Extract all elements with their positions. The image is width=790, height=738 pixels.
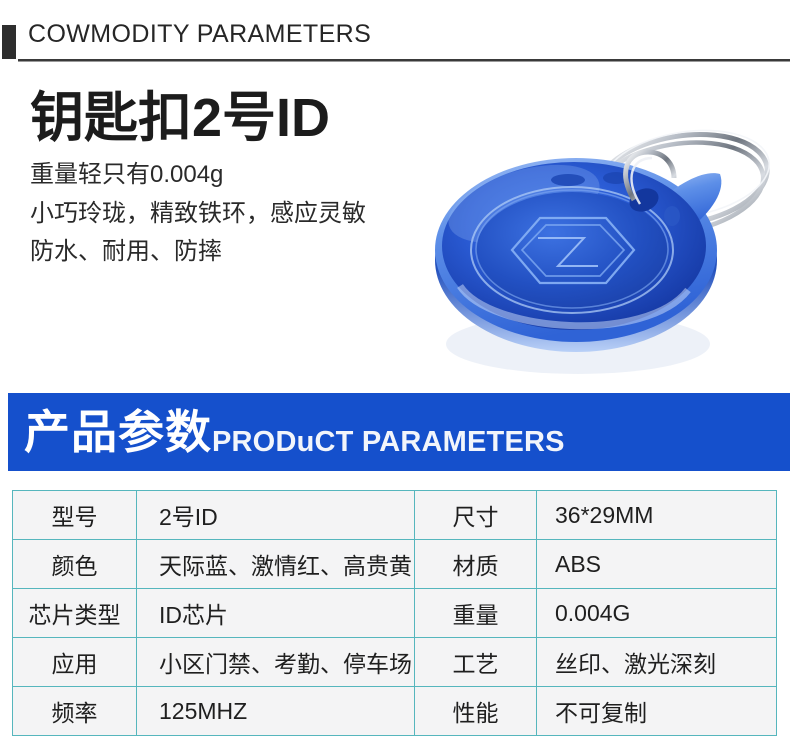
param-label2: 尺寸 bbox=[415, 491, 537, 540]
banner-title-en: PRODuCT PARAMETERS bbox=[212, 428, 565, 457]
param-label2: 性能 bbox=[415, 687, 537, 736]
banner-title-cn: 产品参数 bbox=[24, 409, 212, 455]
parameter-table: 型号 2号ID 尺寸 36*29MM 颜色 天际蓝、激情红、高贵黄 材质 ABS… bbox=[12, 490, 777, 736]
table-row: 应用 小区门禁、考勤、停车场 工艺 丝印、激光深刻 bbox=[13, 638, 777, 687]
product-detail-page: COWMODITY PARAMETERS 钥匙扣2号ID 重量轻只有0.004g… bbox=[0, 0, 790, 738]
param-value2: 0.004G bbox=[537, 589, 777, 638]
param-label: 频率 bbox=[13, 687, 137, 736]
table-row: 芯片类型 ID芯片 重量 0.004G bbox=[13, 589, 777, 638]
param-value2: 36*29MM bbox=[537, 491, 777, 540]
intro-line-weight: 重量轻只有0.004g bbox=[30, 158, 450, 192]
param-label2: 工艺 bbox=[415, 638, 537, 687]
keyfob-image bbox=[420, 108, 790, 390]
section-header: COWMODITY PARAMETERS bbox=[0, 20, 790, 64]
param-label2: 重量 bbox=[415, 589, 537, 638]
product-intro: 钥匙扣2号ID 重量轻只有0.004g 小巧玲珑，精致铁环，感应灵敏 防水、耐用… bbox=[30, 88, 450, 269]
param-value: 天际蓝、激情红、高贵黄 bbox=[137, 540, 415, 589]
param-value: 125MHZ bbox=[137, 687, 415, 736]
product-name: 钥匙扣2号ID bbox=[30, 88, 450, 148]
product-photo bbox=[420, 108, 790, 390]
param-label2: 材质 bbox=[415, 540, 537, 589]
param-value2: 不可复制 bbox=[537, 687, 777, 736]
param-label: 应用 bbox=[13, 638, 137, 687]
header-accent-bar bbox=[2, 25, 16, 59]
intro-line-durability: 防水、耐用、防摔 bbox=[30, 235, 450, 269]
table-row: 颜色 天际蓝、激情红、高贵黄 材质 ABS bbox=[13, 540, 777, 589]
param-label: 芯片类型 bbox=[13, 589, 137, 638]
param-value: 2号ID bbox=[137, 491, 415, 540]
param-value2: ABS bbox=[537, 540, 777, 589]
keyfob-illustration bbox=[420, 108, 790, 390]
table-row: 频率 125MHZ 性能 不可复制 bbox=[13, 687, 777, 736]
param-label: 颜色 bbox=[13, 540, 137, 589]
param-label: 型号 bbox=[13, 491, 137, 540]
param-value2: 丝印、激光深刻 bbox=[537, 638, 777, 687]
header-divider bbox=[18, 59, 790, 62]
param-value: ID芯片 bbox=[137, 589, 415, 638]
parameters-banner: 产品参数 PRODuCT PARAMETERS bbox=[8, 393, 790, 471]
param-value: 小区门禁、考勤、停车场 bbox=[137, 638, 415, 687]
table-row: 型号 2号ID 尺寸 36*29MM bbox=[13, 491, 777, 540]
page-title: COWMODITY PARAMETERS bbox=[28, 20, 371, 49]
intro-line-features: 小巧玲珑，精致铁环，感应灵敏 bbox=[30, 197, 450, 231]
